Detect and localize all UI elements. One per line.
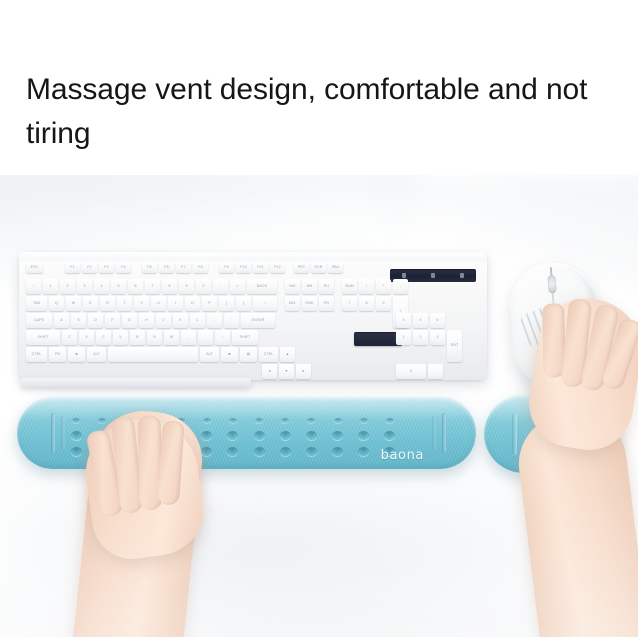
vent-dimple: [280, 431, 291, 440]
key-subtract: -: [393, 279, 408, 294]
key-num5: 5: [413, 313, 428, 328]
vent-dimple: [332, 447, 343, 456]
key-menu: ▤: [240, 347, 257, 362]
key-num4: 4: [396, 313, 411, 328]
key-enter: ENTER: [241, 313, 275, 328]
key-arrow-left: ◄: [262, 364, 277, 379]
key-comma: ,: [181, 330, 196, 345]
key-gap6: [336, 279, 340, 294]
key-insert: INS: [285, 279, 300, 294]
product-image-page: Massage vent design, comfortable and not…: [0, 0, 638, 637]
key-numlock: NUM: [342, 279, 357, 294]
key-num-decimal: .: [428, 364, 443, 379]
key-f10: F10: [236, 262, 251, 273]
key-f2: F2: [82, 262, 97, 273]
key-tilde: ~: [26, 279, 41, 294]
vent-dimple: [306, 447, 317, 456]
key-fn: FN: [49, 347, 66, 362]
key-bracket-left: [: [219, 296, 234, 311]
key-5: 5: [111, 279, 126, 294]
key-t: T: [117, 296, 132, 311]
key-l: L: [190, 313, 205, 328]
key-f6: F6: [159, 262, 174, 273]
key-scroll-lock: SCR: [311, 262, 326, 273]
key-o: O: [185, 296, 200, 311]
key-gap2: [133, 262, 140, 273]
key-esc: ESC: [26, 262, 43, 273]
key-6: 6: [128, 279, 143, 294]
key-num6: 6: [430, 313, 445, 328]
vent-dimple: [227, 431, 238, 440]
key-2: 2: [60, 279, 75, 294]
scroll-lock-icon: [460, 273, 464, 278]
key-ctrl-left: CTRL: [26, 347, 47, 362]
key-3: 3: [77, 279, 92, 294]
key-shift-right: SHIFT: [232, 330, 258, 345]
key-m: M: [164, 330, 179, 345]
key-num0: 0: [396, 364, 426, 379]
vent-dimple: [254, 447, 265, 456]
key-8: 8: [162, 279, 177, 294]
wrist-rest-groove-left-2: [61, 416, 65, 450]
vent-dimple: [280, 447, 291, 456]
key-equal: =: [230, 279, 245, 294]
key-q: Q: [49, 296, 64, 311]
mouse-rest-groove-left: [512, 413, 517, 455]
key-p: P: [202, 296, 217, 311]
key-j: J: [156, 313, 171, 328]
key-arrow-up: ▲: [280, 347, 295, 362]
key-pause: PAU: [328, 262, 343, 273]
brand-logo: baona: [381, 448, 424, 463]
key-num2: 2: [413, 330, 428, 345]
key-home: HM: [302, 279, 317, 294]
key-num9: 9: [376, 296, 391, 311]
key-i: I: [168, 296, 183, 311]
key-9: 9: [179, 279, 194, 294]
key-0: 0: [196, 279, 211, 294]
key-d: D: [88, 313, 103, 328]
caps-lock-icon: [431, 273, 435, 278]
key-f8: F8: [193, 262, 208, 273]
vent-dimple: [71, 447, 82, 456]
vent-dimple: [98, 418, 106, 423]
key-gap7: [279, 296, 283, 311]
key-a: A: [54, 313, 69, 328]
key-4: 4: [94, 279, 109, 294]
keyboard-front-lip: [21, 378, 251, 387]
page-title: Massage vent design, comfortable and not…: [26, 68, 616, 156]
vent-dimple: [281, 418, 289, 423]
key-dark-accent: [354, 332, 402, 346]
key-pageup: PU: [319, 279, 334, 294]
key-num7: 7: [342, 296, 357, 311]
key-quote: ': [224, 313, 239, 328]
keyboard-wrist-rest: baona: [17, 397, 476, 469]
key-divide: /: [359, 279, 374, 294]
key-f11: F11: [253, 262, 268, 273]
key-period: .: [198, 330, 213, 345]
key-backslash: \: [253, 296, 277, 311]
key-gap8: [336, 296, 340, 311]
key-v: V: [113, 330, 128, 345]
key-y: Y: [134, 296, 149, 311]
key-backspace: BACK: [247, 279, 277, 294]
key-f12: F12: [270, 262, 285, 273]
vent-dimple: [201, 447, 212, 456]
vent-dimple: [201, 431, 212, 440]
vent-dimple: [203, 418, 211, 423]
key-space: [108, 347, 198, 362]
key-f: F: [105, 313, 120, 328]
key-n: N: [147, 330, 162, 345]
key-g: G: [122, 313, 137, 328]
keyboard: ESC F1 F2 F3 F4 F5 F6 F7 F8 F9 F10 F11 F…: [19, 252, 487, 380]
vent-dimple: [254, 431, 265, 440]
key-delete: DEL: [285, 296, 300, 311]
vent-dimple: [386, 418, 394, 423]
vent-dimple: [358, 447, 369, 456]
key-arrow-right: ►: [296, 364, 311, 379]
key-num1: 1: [396, 330, 411, 345]
key-b: B: [130, 330, 145, 345]
left-finger-pinky: [157, 420, 185, 505]
wrist-rest-groove-right: [442, 413, 446, 453]
vent-dimple: [307, 418, 315, 423]
key-num3: 3: [430, 330, 445, 345]
key-bracket-right: ]: [236, 296, 251, 311]
key-z: Z: [62, 330, 77, 345]
key-num8: 8: [359, 296, 374, 311]
vent-dimple: [306, 431, 317, 440]
key-f9: F9: [219, 262, 234, 273]
vent-dimple: [334, 418, 342, 423]
key-alt-left: ALT: [87, 347, 106, 362]
key-f7: F7: [176, 262, 191, 273]
vent-dimple: [229, 418, 237, 423]
key-win-left: ■: [68, 347, 85, 362]
key-c: C: [96, 330, 111, 345]
key-semicolon: ;: [207, 313, 222, 328]
key-minus: -: [213, 279, 228, 294]
vent-dimple: [72, 418, 80, 423]
key-alt-right: ALT: [200, 347, 219, 362]
vent-dimple: [358, 431, 369, 440]
product-photo: ESC F1 F2 F3 F4 F5 F6 F7 F8 F9 F10 F11 F…: [0, 175, 638, 637]
key-capslock: CAPS: [26, 313, 52, 328]
key-f3: F3: [99, 262, 114, 273]
key-f4: F4: [116, 262, 131, 273]
key-win-right: ■: [221, 347, 238, 362]
keyboard-keys-area: ESC F1 F2 F3 F4 F5 F6 F7 F8 F9 F10 F11 F…: [24, 260, 482, 374]
key-tab: TAB: [26, 296, 47, 311]
key-s: S: [71, 313, 86, 328]
vent-dimple: [71, 431, 82, 440]
vent-dimple: [255, 418, 263, 423]
key-end: END: [302, 296, 317, 311]
vent-dimple: [384, 431, 395, 440]
key-k: K: [173, 313, 188, 328]
key-w: W: [66, 296, 81, 311]
key-gap: [45, 262, 63, 273]
key-gap5: [279, 279, 283, 294]
key-7: 7: [145, 279, 160, 294]
key-gap4: [287, 262, 292, 273]
key-shift-left: SHIFT: [26, 330, 60, 345]
wrist-rest-groove-right-2: [432, 416, 436, 450]
key-gap3: [210, 262, 217, 273]
key-arrow-down: ▼: [279, 364, 294, 379]
mouse-scroll-wheel: [547, 275, 556, 294]
key-num-enter: ENT: [447, 330, 462, 362]
num-lock-icon: [402, 273, 406, 278]
key-ctrl-right: CTRL: [259, 347, 278, 362]
key-slash: /: [215, 330, 230, 345]
key-f5: F5: [142, 262, 157, 273]
key-f1: F1: [65, 262, 80, 273]
key-r: R: [100, 296, 115, 311]
key-e: E: [83, 296, 98, 311]
key-pagedown: PD: [319, 296, 334, 311]
wrist-rest-groove-left: [51, 413, 55, 453]
vent-dimple: [332, 431, 343, 440]
vent-dimple: [360, 418, 368, 423]
key-multiply: *: [376, 279, 391, 294]
key-x: X: [79, 330, 94, 345]
key-u: U: [151, 296, 166, 311]
key-print-screen: PRT: [294, 262, 309, 273]
key-1: 1: [43, 279, 58, 294]
key-h: H: [139, 313, 154, 328]
vent-dimple: [227, 447, 238, 456]
